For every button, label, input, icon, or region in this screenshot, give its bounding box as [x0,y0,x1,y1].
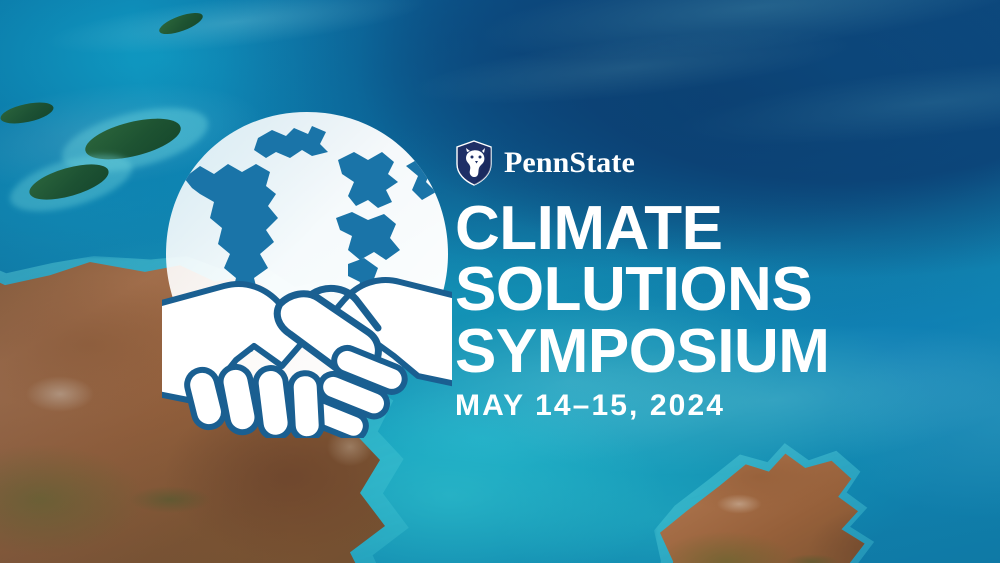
symposium-promo-graphic: PennState CLIMATE SOLUTIONS SYMPOSIUM MA… [0,0,1000,563]
event-date: MAY 14–15, 2024 [455,391,975,421]
event-text-lockup: PennState CLIMATE SOLUTIONS SYMPOSIUM MA… [455,140,975,421]
event-title-line-3: SYMPOSIUM [455,321,975,382]
globe-handshake-icon [162,108,452,438]
event-title-line-2: SOLUTIONS [455,259,975,320]
penn-state-shield-icon [455,140,493,186]
penn-state-logo: PennState [455,140,975,186]
penn-state-wordmark: PennState [504,148,635,178]
event-title-line-1: CLIMATE [455,198,975,259]
